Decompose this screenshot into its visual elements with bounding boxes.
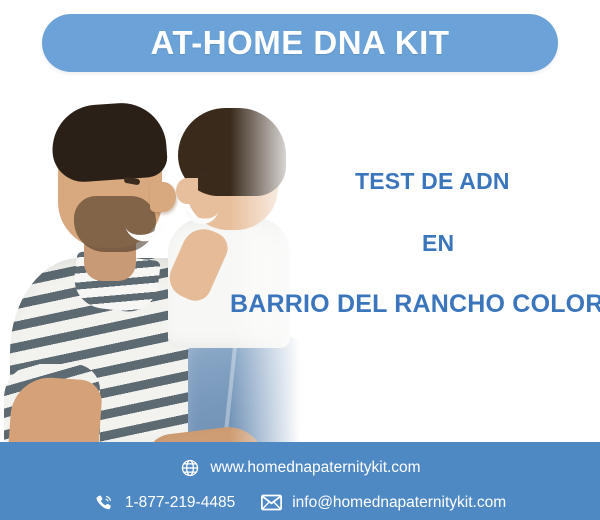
envelope-icon xyxy=(261,492,282,513)
globe-icon xyxy=(179,457,200,478)
photo-edge-fade xyxy=(230,78,320,448)
contact-footer: www.homednapaternitykit.com 1-877-219-44… xyxy=(0,442,600,520)
headline-line-service: TEST DE ADN xyxy=(355,168,510,195)
phone-label: 1-877-219-4485 xyxy=(125,495,235,511)
man-hair xyxy=(49,100,168,184)
family-photo: Smiling father in a grey and white strip… xyxy=(0,78,320,448)
footer-row-website: www.homednapaternitykit.com xyxy=(0,442,600,483)
header-banner: AT-HOME DNA KIT xyxy=(42,14,558,72)
page-title: AT-HOME DNA KIT xyxy=(151,24,450,62)
man-nose xyxy=(150,182,176,212)
email-contact[interactable]: info@homednapaternitykit.com xyxy=(261,492,506,513)
headline-line-connector: EN xyxy=(422,230,454,257)
website-label: www.homednapaternitykit.com xyxy=(210,460,420,476)
phone-icon xyxy=(94,492,115,513)
phone-contact[interactable]: 1-877-219-4485 xyxy=(94,492,235,513)
footer-row-phone-email: 1-877-219-4485 info@homednapaternitykit.… xyxy=(0,483,600,518)
email-label: info@homednapaternitykit.com xyxy=(292,495,506,511)
website-contact[interactable]: www.homednapaternitykit.com xyxy=(179,457,420,478)
promo-graphic: AT-HOME DNA KIT Smiling father in a grey… xyxy=(0,0,600,520)
